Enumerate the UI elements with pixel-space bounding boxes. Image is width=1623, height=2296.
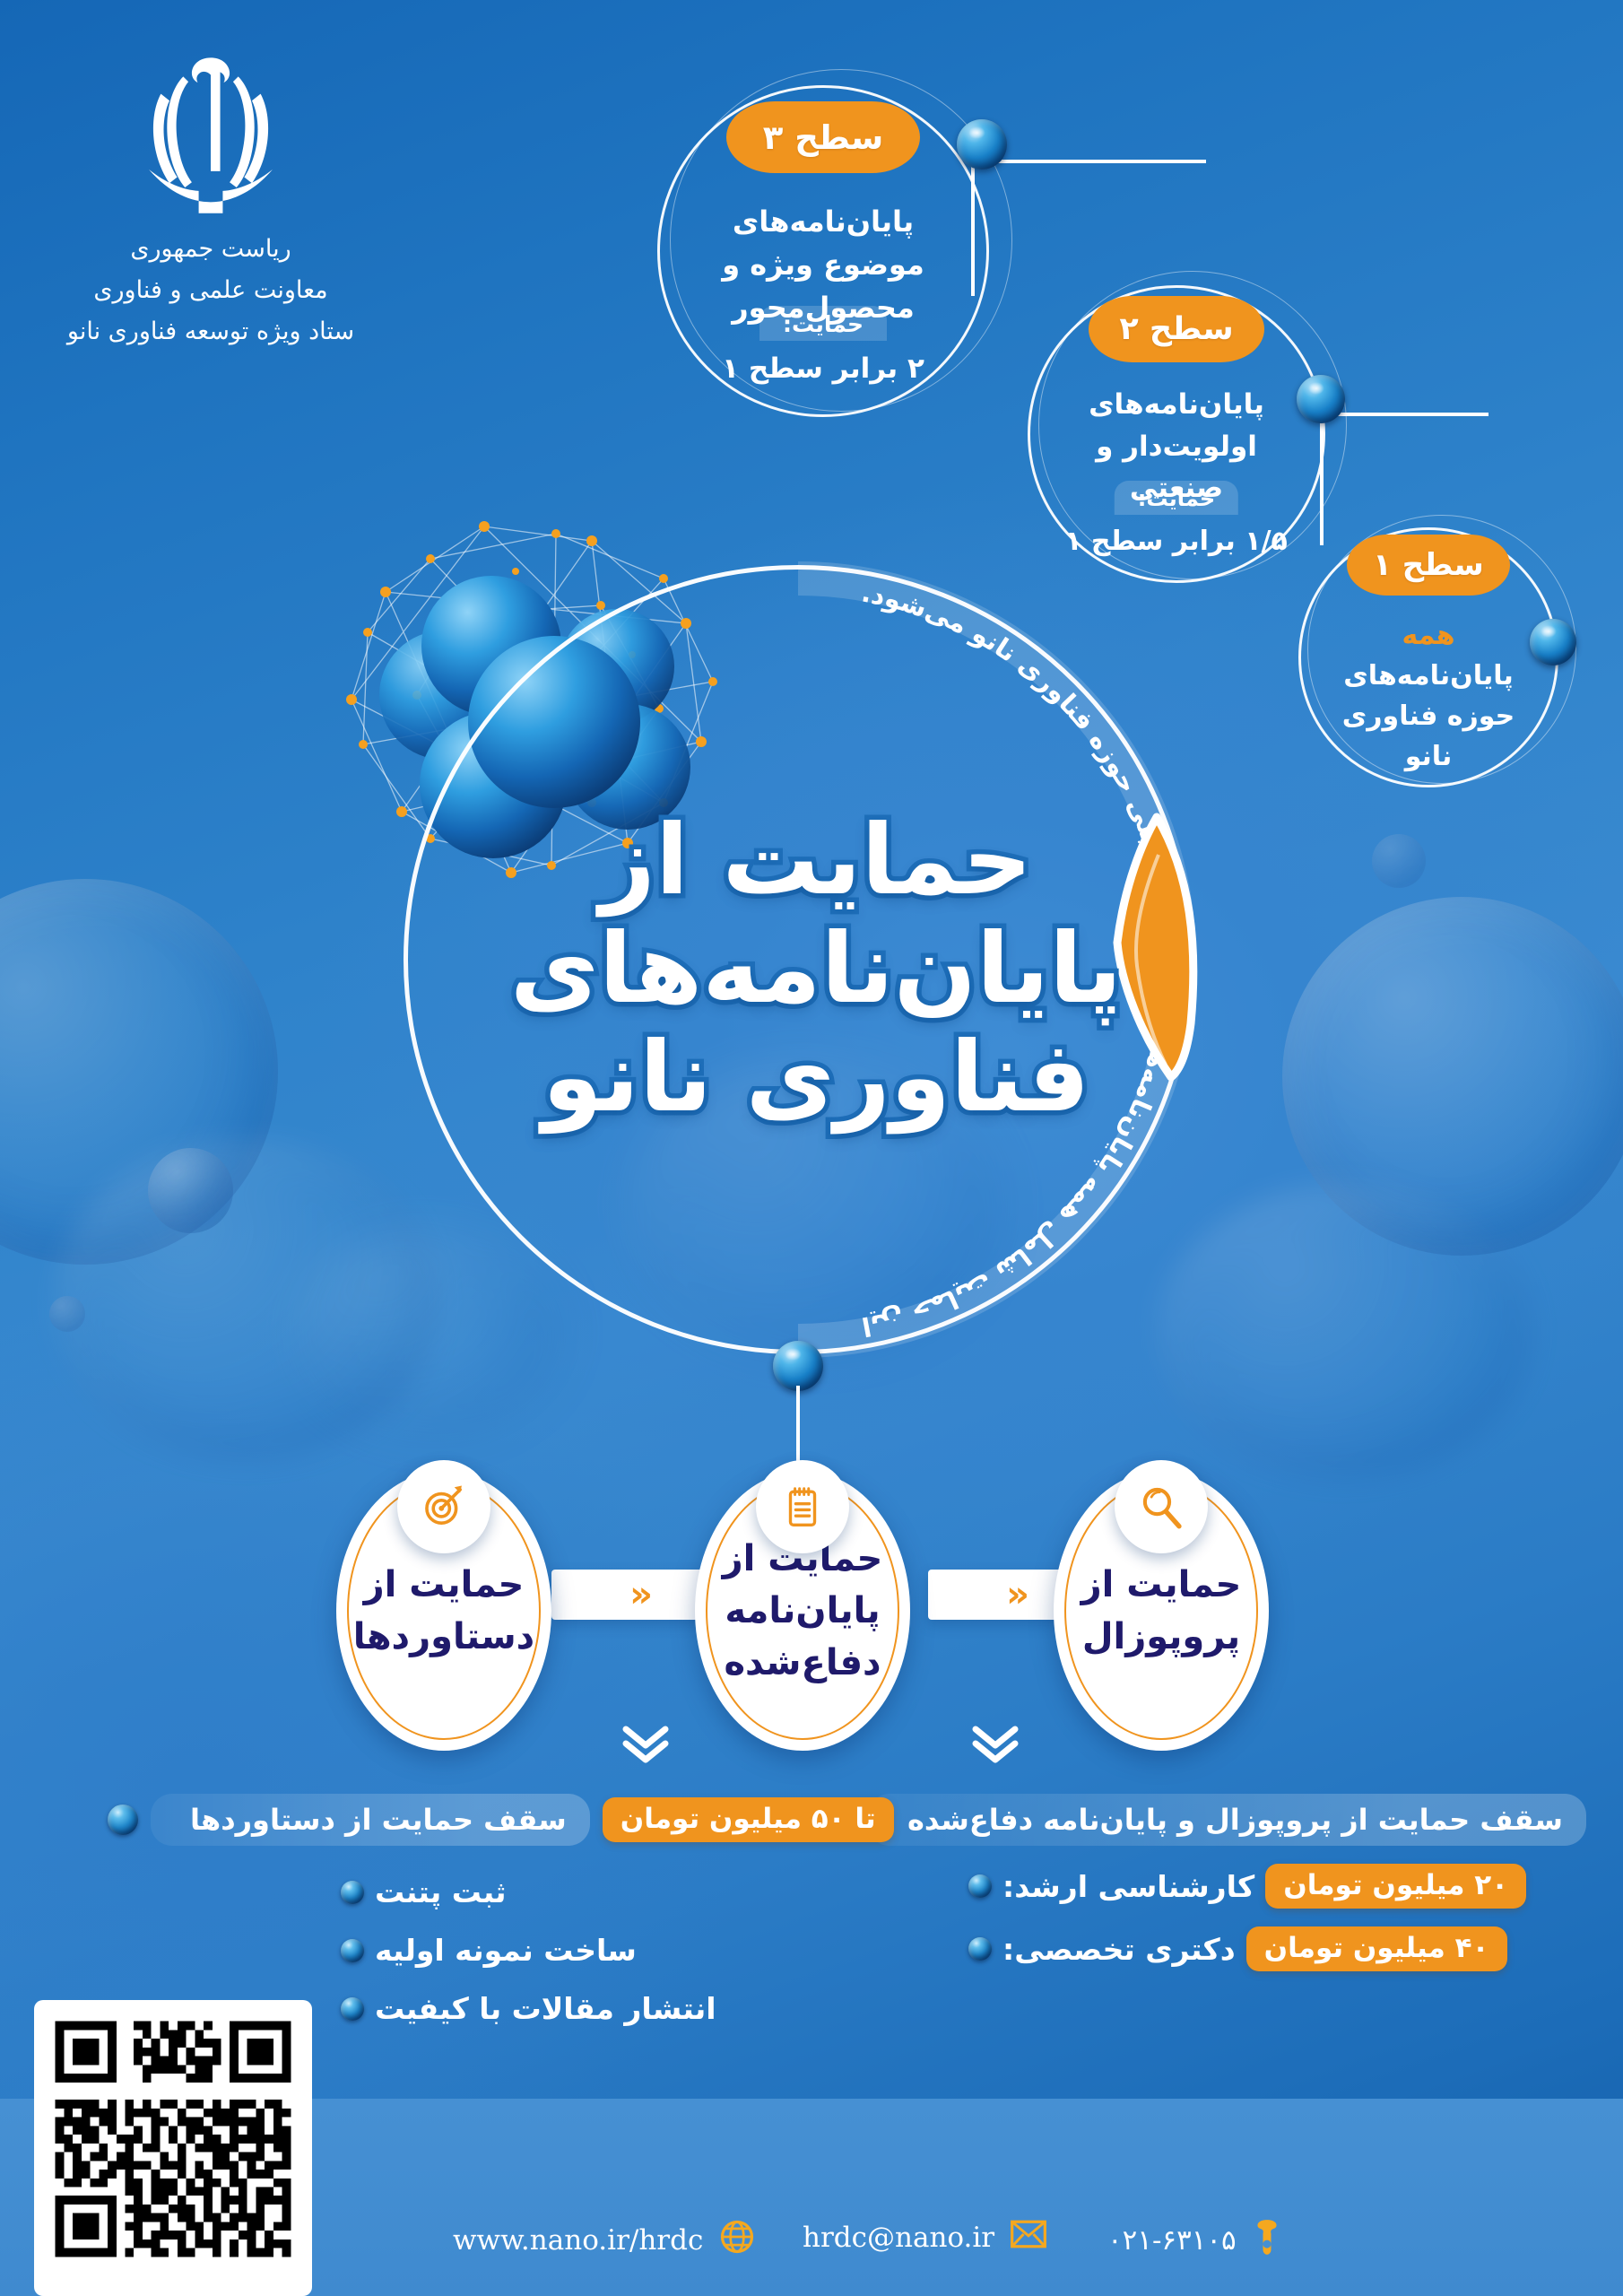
step-label: حمایت از دستاوردها <box>336 1559 551 1663</box>
section-heading-achievements-cap: سقف حمایت از دستاوردها تا ۵۰ میلیون توما… <box>108 1794 894 1846</box>
phd-amount: ۴۰ میلیون تومان <box>1246 1926 1507 1971</box>
info-row-phd: دکتری تخصصی: ۴۰ میلیون تومان <box>968 1926 1507 1971</box>
achievements-amount: تا ۵۰ میلیون تومان <box>603 1797 894 1842</box>
contact-email[interactable]: hrdc@nano.ir <box>803 2217 1048 2258</box>
level-card-1[interactable]: سطح ۱ همه پایان‌نامه‌های حوزه فناوری نان… <box>1298 527 1558 787</box>
title-line-2: پایان‌نامه‌های <box>466 916 1166 1024</box>
contact-phone[interactable]: ۰۲۱-۶۳۱۰۵ <box>1107 2217 1283 2264</box>
bullet-icon <box>341 1881 364 1904</box>
clipboard-icon <box>756 1460 849 1553</box>
bullet-icon <box>968 1874 992 1898</box>
main-circle-bottom-node <box>773 1341 823 1391</box>
envelope-icon <box>1009 2217 1048 2258</box>
level-2-support-value: ۱/۵ برابر سطح ۱ <box>1028 526 1325 557</box>
org-line-2: معاونت علمی و فناوری <box>54 270 368 311</box>
bg-bubble <box>49 1296 85 1332</box>
org-line-3: ستاد ویژه توسعه فناوری نانو <box>54 311 368 352</box>
phd-label: دکتری تخصصی: <box>1002 1932 1236 1967</box>
bullet-icon <box>108 1805 138 1835</box>
level-1-body-text: پایان‌نامه‌های حوزه فناوری نانو <box>1342 660 1515 772</box>
magnifier-icon <box>1115 1460 1208 1553</box>
achievement-item-label: انتشار مقالات با کیفیت <box>375 1991 716 2026</box>
bullet-icon <box>341 1939 364 1962</box>
info-row-patent: ثبت پتنت <box>341 1874 507 1909</box>
masters-label: کارشناسی ارشد: <box>1002 1869 1254 1904</box>
section-heading-text: سقف حمایت از پروپوزال و پایان‌نامه دفاع‌… <box>868 1794 1586 1846</box>
bg-bubble <box>1372 834 1426 888</box>
achievement-item-label: ثبت پتنت <box>375 1874 507 1909</box>
target-icon <box>397 1460 490 1553</box>
chevron-down-icon <box>968 1722 1022 1769</box>
level-card-3[interactable]: سطح ۳ پایان‌نامه‌های موضوع ویژه و محصول‌… <box>657 85 989 417</box>
masters-amount: ۲۰ میلیون تومان <box>1265 1864 1526 1909</box>
level-1-description: همه پایان‌نامه‌های حوزه فناوری نانو <box>1298 615 1558 777</box>
phone-number: ۰۲۱-۶۳۱۰۵ <box>1107 2224 1237 2257</box>
chevron-down-icon <box>619 1722 673 1769</box>
level-2-support-label: حمایت: <box>1115 481 1238 515</box>
step-label: حمایت از پایان‌نامه دفاع‌شده <box>695 1533 910 1689</box>
section-heading-text: سقف حمایت از دستاوردها <box>151 1794 590 1846</box>
bullet-icon <box>341 1997 364 2021</box>
chevron-left-icon: « <box>1006 1577 1029 1613</box>
level-1-highlight: همه <box>1402 620 1454 651</box>
level-1-node <box>1530 619 1576 665</box>
poster-canvas: ریاست جمهوری معاونت علمی و فناوری ستاد و… <box>0 0 1623 2296</box>
level-2-node <box>1297 375 1345 423</box>
level-3-node <box>957 119 1007 170</box>
step-label: حمایت از پروپوزال <box>1054 1559 1269 1663</box>
bg-bubble <box>1282 897 1623 1256</box>
org-line-1: ریاست جمهوری <box>54 229 368 270</box>
info-row-prototype: ساخت نمونه اولیه <box>341 1933 637 1968</box>
info-row-articles: انتشار مقالات با کیفیت <box>341 1991 716 2026</box>
bg-bubble <box>1157 1184 1533 1480</box>
globe-icon <box>717 2217 757 2264</box>
section-heading-proposal-cap: سقف حمایت از پروپوزال و پایان‌نامه دفاع‌… <box>825 1794 1586 1846</box>
bg-bubble <box>0 879 278 1265</box>
achievement-item-label: ساخت نمونه اولیه <box>375 1933 637 1968</box>
level-1-badge[interactable]: سطح ۱ <box>1347 535 1510 596</box>
level-3-badge[interactable]: سطح ۳ <box>726 101 920 173</box>
level-3-support-label: حمایت: <box>759 306 887 341</box>
qr-code-icon[interactable] <box>34 2000 312 2296</box>
contact-website[interactable]: www.nano.ir/hrdc <box>453 2217 757 2264</box>
title-line-3: فناوری نانو <box>466 1024 1166 1133</box>
level-3-support-value: ۲ برابر سطح ۱ <box>657 352 989 385</box>
bg-bubble <box>148 1148 233 1233</box>
email-address: hrdc@nano.ir <box>803 2222 994 2254</box>
info-row-masters: کارشناسی ارشد: ۲۰ میلیون تومان <box>968 1864 1526 1909</box>
bg-bubble <box>54 1139 439 1462</box>
title-line-1: حمایت از <box>466 807 1166 916</box>
level-2-badge[interactable]: سطح ۲ <box>1089 296 1264 362</box>
level-card-2[interactable]: سطح ۲ پایان‌نامه‌های اولویت‌دار و صنعتی … <box>1028 285 1325 583</box>
phone-icon <box>1251 2217 1283 2264</box>
chevron-left-icon: « <box>629 1577 653 1613</box>
bullet-icon <box>968 1937 992 1961</box>
website-url: www.nano.ir/hrdc <box>453 2224 703 2257</box>
page-title: حمایت از پایان‌نامه‌های فناوری نانو <box>466 807 1166 1133</box>
organization-name: ریاست جمهوری معاونت علمی و فناوری ستاد و… <box>54 229 368 352</box>
organization-emblem <box>108 40 314 233</box>
